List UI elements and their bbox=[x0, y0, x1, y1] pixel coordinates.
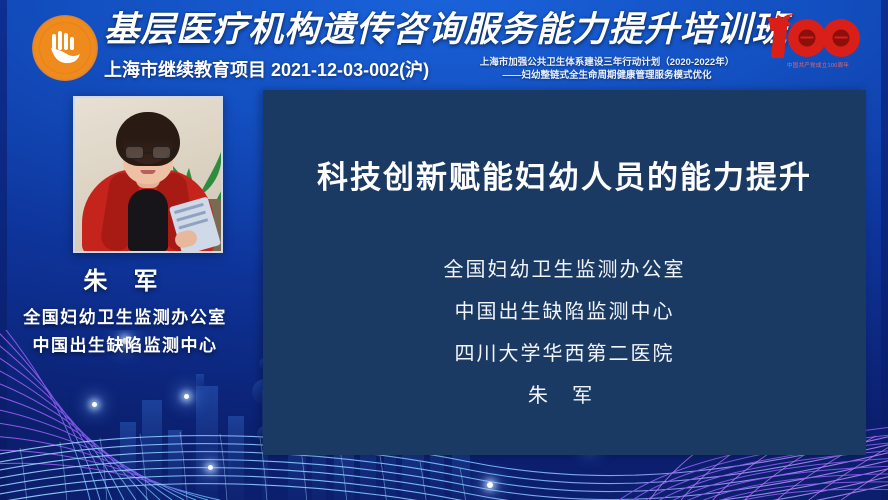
eyeglasses-icon bbox=[125, 146, 171, 160]
hammer-sickle-icon bbox=[774, 12, 800, 34]
speaker-name: 朱 军 bbox=[0, 261, 250, 296]
presentation-slide: 基层医疗机构遗传咨询服务能力提升培训班 上海市继续教育项目 2021-12-03… bbox=[0, 0, 888, 500]
cpc-caption: 中国共产党成立100周年 bbox=[770, 62, 866, 70]
speaker-affiliation-1: 全国妇幼卫生监测办公室 bbox=[0, 303, 250, 328]
affiliation-line: 全国妇幼卫生监测办公室 bbox=[263, 248, 866, 290]
slide-content-panel: 科技创新赋能妇幼人员的能力提升 全国妇幼卫生监测办公室 中国出生缺陷监测中心 四… bbox=[263, 90, 866, 455]
slide-header: 基层医疗机构遗传咨询服务能力提升培训班 上海市继续教育项目 2021-12-03… bbox=[0, 0, 888, 90]
cpc-centenary-100-icon: 中国共产党成立100周年 bbox=[770, 16, 866, 78]
course-code-label: 上海市继续教育项目 2021-12-03-002(沪) bbox=[104, 56, 429, 82]
page-title: 基层医疗机构遗传咨询服务能力提升培训班 bbox=[104, 6, 724, 54]
glow-dot bbox=[487, 482, 493, 488]
glow-dot bbox=[92, 402, 97, 407]
presentation-title: 科技创新赋能妇幼人员的能力提升 bbox=[263, 152, 866, 197]
speaker-portrait-photo bbox=[73, 96, 223, 253]
hand-dove-emblem-icon bbox=[32, 15, 98, 81]
affiliation-line: 中国出生缺陷监测中心 bbox=[263, 290, 866, 332]
glow-dot bbox=[208, 465, 213, 470]
presentation-affiliations: 全国妇幼卫生监测办公室 中国出生缺陷监测中心 四川大学华西第二医院 朱 军 bbox=[263, 248, 866, 416]
program-subtitle: 上海市加强公共卫生体系建设三年行动计划（2020-2022年） ——妇幼整链式全… bbox=[452, 56, 762, 82]
program-line-2: ——妇幼整链式全生命周期健康管理服务模式优化 bbox=[452, 69, 762, 82]
program-line-1: 上海市加强公共卫生体系建设三年行动计划（2020-2022年） bbox=[452, 56, 762, 69]
speaker-affiliation-2: 中国出生缺陷监测中心 bbox=[0, 331, 250, 356]
affiliation-line: 四川大学华西第二医院 bbox=[263, 332, 866, 374]
presenter-name: 朱 军 bbox=[263, 374, 866, 416]
glow-dot bbox=[184, 394, 189, 399]
